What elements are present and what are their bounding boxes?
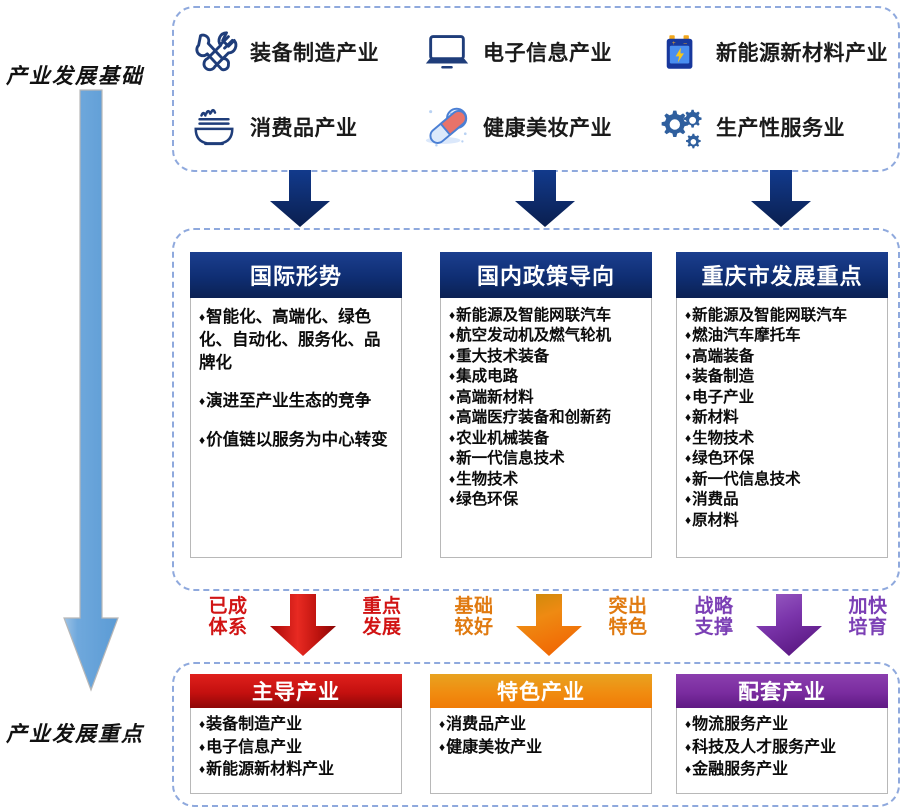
connector-arrow-down-1 bbox=[264, 170, 336, 228]
list-item: 新能源及智能网联汽车 bbox=[449, 306, 645, 326]
list-item: 集成电路 bbox=[449, 367, 645, 387]
list-item: 电子信息产业 bbox=[199, 737, 395, 760]
list-item: 新一代信息技术 bbox=[685, 470, 881, 490]
list-item: 生物技术 bbox=[685, 429, 881, 449]
card-title: 重庆市发展重点 bbox=[676, 252, 888, 298]
list-item: 绿色环保 bbox=[685, 449, 881, 469]
basis-item-electronic-information[interactable]: 电子信息产业 bbox=[421, 14, 654, 89]
list-item: 消费品 bbox=[685, 490, 881, 510]
list-item: 演进至产业生态的竞争 bbox=[199, 390, 395, 413]
list-item: 智能化、高端化、绿色化、自动化、服务化、品牌化 bbox=[199, 306, 395, 374]
list-item: 农业机械装备 bbox=[449, 429, 645, 449]
basis-item-label: 新能源新材料产业 bbox=[716, 37, 888, 67]
bullet-list: 智能化、高端化、绿色化、自动化、服务化、品牌化 演进至产业生态的竞争 价值链以服… bbox=[199, 306, 395, 452]
list-item: 装备制造 bbox=[685, 367, 881, 387]
bullet-list: 消费品产业 健康美妆产业 bbox=[439, 714, 645, 759]
transition-label-left: 基础较好 bbox=[446, 596, 502, 639]
list-item: 高端装备 bbox=[685, 347, 881, 367]
card-body: 消费品产业 健康美妆产业 bbox=[430, 708, 652, 794]
list-item: 新一代信息技术 bbox=[449, 449, 645, 469]
battery-icon: + – bbox=[654, 26, 706, 78]
card-body: 智能化、高端化、绿色化、自动化、服务化、品牌化 演进至产业生态的竞争 价值链以服… bbox=[190, 298, 402, 558]
diagram-root: 产业发展基础 产业发展重点 bbox=[0, 0, 906, 812]
card-domestic-policy[interactable]: 国内政策导向 新能源及智能网联汽车 航空发动机及燃气轮机 重大技术装备 集成电路… bbox=[440, 252, 652, 558]
rail-label-bottom: 产业发展重点 bbox=[6, 718, 144, 748]
transition-arrow-orange bbox=[510, 592, 588, 658]
basis-item-new-energy-materials[interactable]: + – 新能源新材料产业 bbox=[654, 14, 888, 89]
bullet-list: 新能源及智能网联汽车 燃油汽车摩托车 高端装备 装备制造 电子产业 新材料 生物… bbox=[685, 306, 881, 531]
rail-label-top: 产业发展基础 bbox=[6, 60, 144, 90]
card-body: 新能源及智能网联汽车 航空发动机及燃气轮机 重大技术装备 集成电路 高端新材料 … bbox=[440, 298, 652, 558]
transition-arrow-red bbox=[264, 592, 342, 658]
transition-group-support: 战略支撑 加快培育 bbox=[672, 596, 906, 658]
list-item: 电子产业 bbox=[685, 388, 881, 408]
bullet-list: 新能源及智能网联汽车 航空发动机及燃气轮机 重大技术装备 集成电路 高端新材料 … bbox=[449, 306, 645, 511]
list-item: 重大技术装备 bbox=[449, 347, 645, 367]
card-supporting-industries[interactable]: 配套产业 物流服务产业 科技及人才服务产业 金融服务产业 bbox=[676, 674, 888, 794]
transition-arrow-purple bbox=[750, 592, 828, 658]
transition-label-right: 加快培育 bbox=[840, 596, 896, 639]
list-item: 金融服务产业 bbox=[685, 759, 881, 782]
laptop-icon bbox=[421, 26, 473, 78]
basis-item-consumer-goods[interactable]: 消费品产业 bbox=[188, 89, 421, 164]
noodle-bowl-icon bbox=[188, 101, 240, 153]
svg-text:+: + bbox=[672, 39, 676, 46]
list-item: 新能源新材料产业 bbox=[199, 759, 395, 782]
card-title: 配套产业 bbox=[676, 674, 888, 708]
list-item: 科技及人才服务产业 bbox=[685, 737, 881, 760]
svg-text:–: – bbox=[684, 39, 688, 46]
process-direction-arrow bbox=[62, 88, 120, 720]
transition-label-left: 战略支撑 bbox=[686, 596, 742, 639]
list-item: 原材料 bbox=[685, 511, 881, 531]
card-body: 新能源及智能网联汽车 燃油汽车摩托车 高端装备 装备制造 电子产业 新材料 生物… bbox=[676, 298, 888, 558]
transition-label-left: 已成体系 bbox=[200, 596, 256, 639]
bullet-list: 物流服务产业 科技及人才服务产业 金融服务产业 bbox=[685, 714, 881, 782]
list-item: 绿色环保 bbox=[449, 490, 645, 510]
card-title: 国内政策导向 bbox=[440, 252, 652, 298]
card-body: 装备制造产业 电子信息产业 新能源新材料产业 bbox=[190, 708, 402, 794]
list-item: 燃油汽车摩托车 bbox=[685, 326, 881, 346]
list-item: 健康美妆产业 bbox=[439, 737, 645, 760]
pills-icon bbox=[421, 101, 473, 153]
transition-label-right: 突出特色 bbox=[600, 596, 656, 639]
list-item: 装备制造产业 bbox=[199, 714, 395, 737]
list-item: 高端新材料 bbox=[449, 388, 645, 408]
card-chongqing-priorities[interactable]: 重庆市发展重点 新能源及智能网联汽车 燃油汽车摩托车 高端装备 装备制造 电子产… bbox=[676, 252, 888, 558]
basis-item-label: 生产性服务业 bbox=[716, 112, 845, 142]
transition-label-right: 重点发展 bbox=[354, 596, 410, 639]
card-title: 国际形势 bbox=[190, 252, 402, 298]
list-item: 消费品产业 bbox=[439, 714, 645, 737]
card-featured-industries[interactable]: 特色产业 消费品产业 健康美妆产业 bbox=[430, 674, 652, 794]
basis-item-label: 装备制造产业 bbox=[250, 37, 379, 67]
transition-group-primary: 已成体系 重点发展 bbox=[186, 596, 422, 658]
gears-icon bbox=[654, 101, 706, 153]
basis-item-producer-services[interactable]: 生产性服务业 bbox=[654, 89, 888, 164]
list-item: 新能源及智能网联汽车 bbox=[685, 306, 881, 326]
list-item: 航空发动机及燃气轮机 bbox=[449, 326, 645, 346]
connector-arrow-down-2 bbox=[509, 170, 581, 228]
list-item: 生物技术 bbox=[449, 470, 645, 490]
list-item: 高端医疗装备和创新药 bbox=[449, 408, 645, 428]
industry-basis-panel: 装备制造产业 电子信息产业 bbox=[172, 6, 900, 172]
card-title: 特色产业 bbox=[430, 674, 652, 708]
basis-item-label: 电子信息产业 bbox=[483, 37, 612, 67]
connector-arrow-down-3 bbox=[745, 170, 817, 228]
basis-item-label: 健康美妆产业 bbox=[483, 112, 612, 142]
bullet-list: 装备制造产业 电子信息产业 新能源新材料产业 bbox=[199, 714, 395, 782]
list-item: 物流服务产业 bbox=[685, 714, 881, 737]
basis-item-equipment-manufacturing[interactable]: 装备制造产业 bbox=[188, 14, 421, 89]
basis-item-health-beauty[interactable]: 健康美妆产业 bbox=[421, 89, 654, 164]
list-item: 价值链以服务为中心转变 bbox=[199, 429, 395, 452]
basis-item-label: 消费品产业 bbox=[250, 112, 358, 142]
card-international-situation[interactable]: 国际形势 智能化、高端化、绿色化、自动化、服务化、品牌化 演进至产业生态的竞争 … bbox=[190, 252, 402, 558]
transition-group-feature: 基础较好 突出特色 bbox=[432, 596, 668, 658]
card-title: 主导产业 bbox=[190, 674, 402, 708]
wrench-screwdriver-icon bbox=[188, 26, 240, 78]
list-item: 新材料 bbox=[685, 408, 881, 428]
card-body: 物流服务产业 科技及人才服务产业 金融服务产业 bbox=[676, 708, 888, 794]
card-leading-industries[interactable]: 主导产业 装备制造产业 电子信息产业 新能源新材料产业 bbox=[190, 674, 402, 794]
